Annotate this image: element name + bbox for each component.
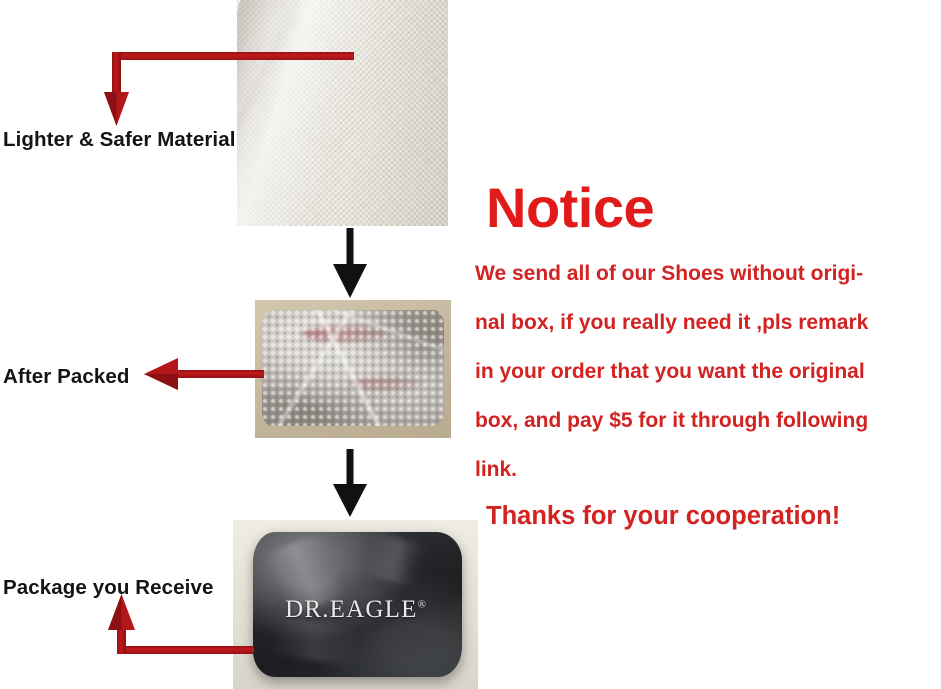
notice-line: We send all of our Shoes without origi-	[475, 262, 863, 286]
notice-line: link.	[475, 458, 517, 482]
step-label-after-packed: After Packed	[3, 365, 130, 389]
red-elbow-arrow-up-icon	[104, 594, 254, 660]
notice-thanks-message: Thanks for your cooperation!	[486, 502, 840, 531]
notice-line: in your order that you want the original	[475, 360, 865, 384]
brand-name: DR.EAGLE	[285, 596, 418, 623]
red-elbow-arrow-down-icon	[104, 52, 354, 130]
notice-line: box, and pay $5 for it through following	[475, 409, 868, 433]
infographic-stage: DR.EAGLE®	[0, 0, 941, 689]
packed-plastic-creases	[262, 310, 444, 426]
notice-panel: Notice We send all of our Shoes without …	[460, 180, 941, 560]
registered-mark: ®	[418, 599, 426, 611]
black-arrow-down-icon-1	[330, 228, 370, 298]
step-label-lighter-safer-material: Lighter & Safer Material	[3, 128, 236, 152]
notice-line: nal box, if you really need it ,pls rema…	[475, 311, 868, 335]
photo-package-you-receive: DR.EAGLE®	[233, 520, 478, 689]
step-label-package-you-receive: Package you Receive	[3, 576, 213, 600]
mailer-highlight-2	[363, 532, 426, 587]
photo-after-packed	[255, 300, 451, 438]
notice-title: Notice	[486, 180, 654, 236]
black-arrow-down-icon-2	[330, 449, 370, 517]
packed-bubble-bundle	[262, 310, 444, 426]
red-arrow-left-icon	[144, 356, 264, 392]
brand-logo-text: DR.EAGLE®	[233, 596, 478, 624]
